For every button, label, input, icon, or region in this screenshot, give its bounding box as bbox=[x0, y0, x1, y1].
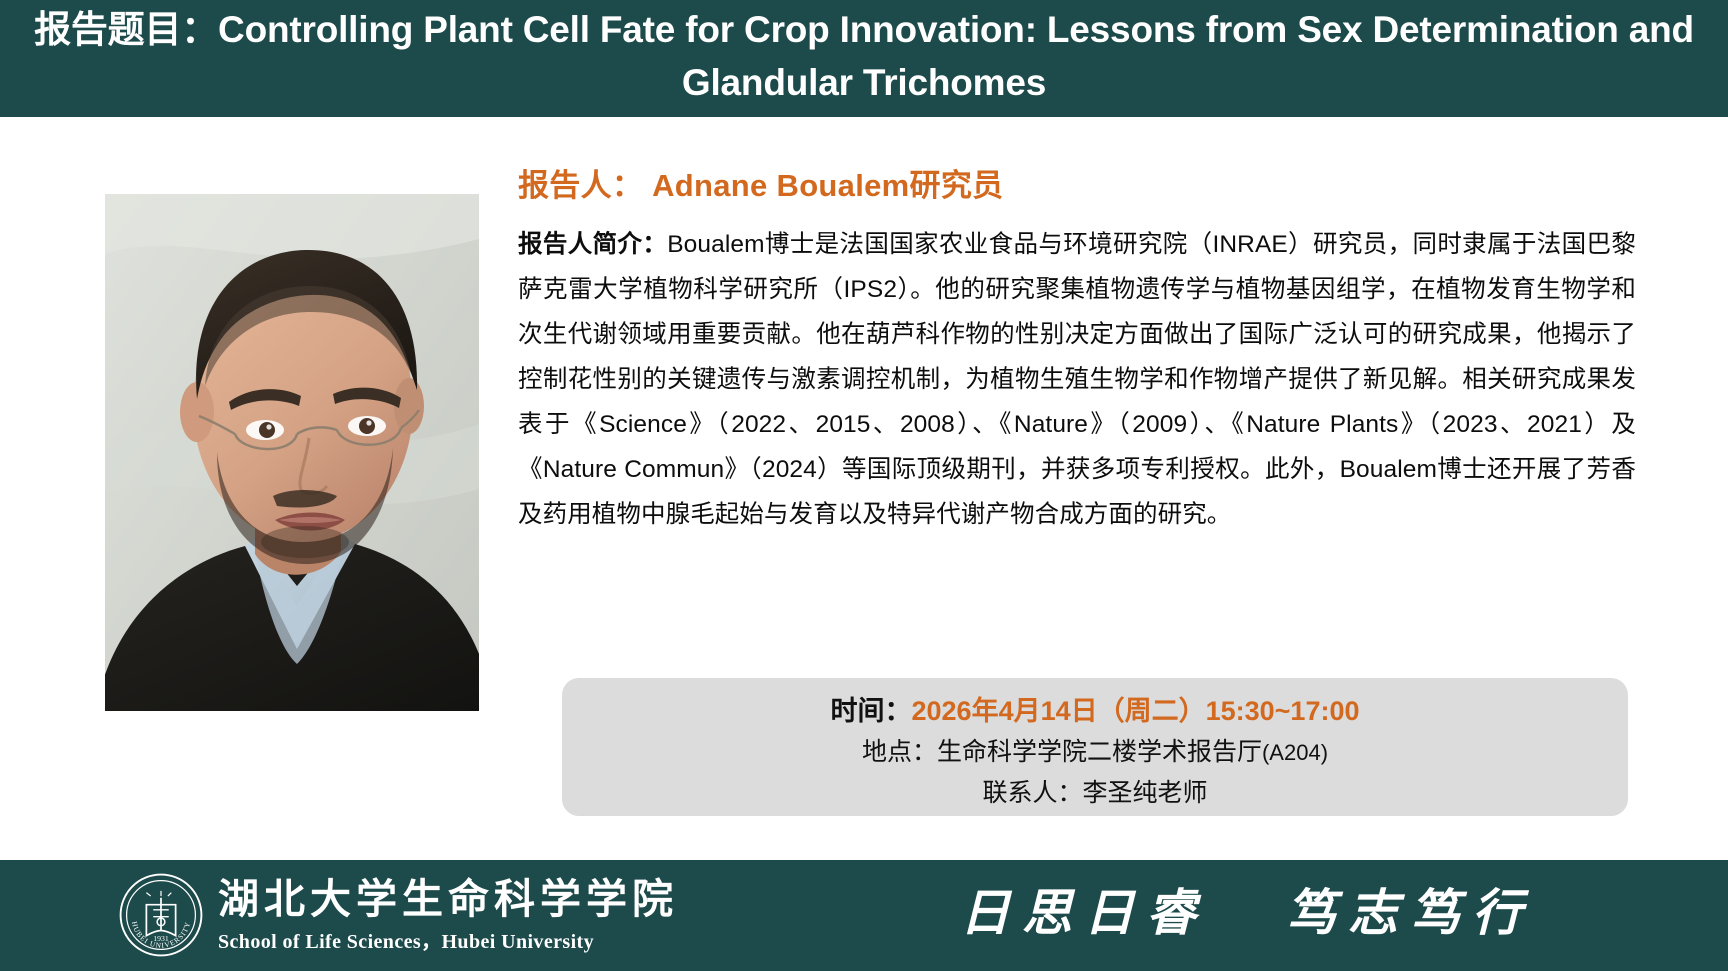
event-contact-value: 李圣纯老师 bbox=[1083, 779, 1208, 807]
speaker-biography: 报告人简介：Boualem博士是法国国家农业食品与环境研究院（INRAE）研究员… bbox=[518, 222, 1636, 537]
university-seal-icon: 1931 HUBEI UNIVERSITY bbox=[118, 872, 204, 958]
motto-right: 笃志笃行 bbox=[1286, 886, 1534, 941]
university-name-en: School of Life Sciences，Hubei University bbox=[218, 925, 678, 954]
motto-left: 日思日睿 bbox=[960, 886, 1208, 941]
speaker-portrait bbox=[105, 194, 479, 711]
page-title: 报告题目：Controlling Plant Cell Fate for Cro… bbox=[22, 4, 1706, 109]
event-contact-label: 联系人： bbox=[982, 779, 1082, 807]
seminar-poster: 报告题目：Controlling Plant Cell Fate for Cro… bbox=[0, 0, 1728, 971]
footer-banner: 1931 HUBEI UNIVERSITY 湖北大学生命科学学院 School … bbox=[0, 860, 1728, 971]
event-time-label: 时间： bbox=[831, 696, 912, 726]
event-time-row: 时间：2026年4月14日（周二）15:30~17:00 bbox=[562, 690, 1628, 732]
university-logo-group: 1931 HUBEI UNIVERSITY 湖北大学生命科学学院 School … bbox=[118, 872, 678, 958]
event-contact-row: 联系人：李圣纯老师 bbox=[562, 773, 1628, 813]
event-place-row: 地点：生命科学学院二楼学术报告厅(A204) bbox=[562, 732, 1628, 773]
university-logo-text: 湖北大学生命科学学院 School of Life Sciences，Hubei… bbox=[218, 876, 678, 954]
biography-text: Boualem博士是法国国家农业食品与环境研究院（INRAE）研究员，同时隶属于… bbox=[518, 231, 1636, 528]
portrait-photo bbox=[105, 194, 479, 711]
event-place-label: 地点： bbox=[862, 738, 937, 766]
event-time-value: 2026年4月14日（周二）15:30~17:00 bbox=[912, 696, 1360, 726]
header-banner: 报告题目：Controlling Plant Cell Fate for Cro… bbox=[0, 0, 1728, 117]
event-info-box: 时间：2026年4月14日（周二）15:30~17:00 地点：生命科学学院二楼… bbox=[562, 678, 1628, 816]
speaker-name-line: 报告人： Adnane Boualem研究员 bbox=[518, 160, 1638, 205]
event-room-number: (A204) bbox=[1262, 740, 1328, 765]
biography-label: 报告人简介： bbox=[518, 231, 667, 258]
event-place-value: 生命科学学院二楼学术报告厅 bbox=[937, 738, 1262, 766]
university-motto: 日思日睿 笃志笃行 bbox=[960, 886, 1534, 941]
university-name-cn: 湖北大学生命科学学院 bbox=[218, 876, 678, 923]
